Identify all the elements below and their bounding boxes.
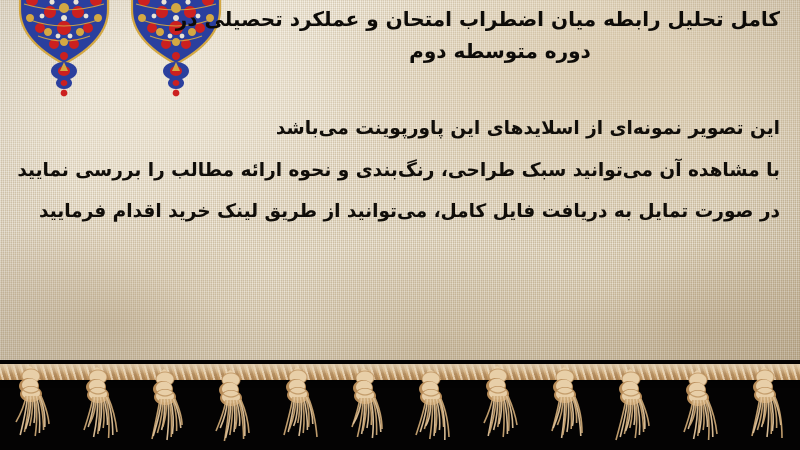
tassel bbox=[534, 367, 600, 447]
slide-body-text: این تصویر نمونه‌ای از اسلایدهای این پاور… bbox=[18, 108, 780, 233]
slide-canvas: کامل تحلیل رابطه میان اضطراب امتحان و عم… bbox=[0, 0, 800, 450]
tassel bbox=[67, 367, 133, 447]
tassel bbox=[267, 367, 333, 447]
body-line-2: با مشاهده آن می‌توانید سبک طراحی، رنگ‌بن… bbox=[18, 150, 780, 192]
tassel bbox=[600, 369, 666, 449]
persian-tazhib-ornament-left bbox=[16, 0, 112, 100]
tassel bbox=[334, 368, 400, 448]
tassel bbox=[0, 366, 66, 446]
body-line-3: در صورت تمایل به دریافت فایل کامل، می‌تو… bbox=[18, 191, 780, 233]
tassel bbox=[667, 370, 733, 450]
title-line-1: کامل تحلیل رابطه میان اضطراب امتحان و عم… bbox=[220, 4, 780, 36]
tassel bbox=[134, 369, 200, 449]
tassel bbox=[734, 367, 800, 447]
title-line-2: دوره متوسطه دوم bbox=[220, 36, 780, 68]
body-line-1: این تصویر نمونه‌ای از اسلایدهای این پاور… bbox=[18, 108, 780, 150]
tassel bbox=[400, 369, 466, 449]
knotted-tassel-fringe bbox=[0, 360, 800, 450]
tassel bbox=[467, 366, 533, 446]
tassel bbox=[200, 370, 266, 450]
slide-title: کامل تحلیل رابطه میان اضطراب امتحان و عم… bbox=[220, 4, 780, 67]
